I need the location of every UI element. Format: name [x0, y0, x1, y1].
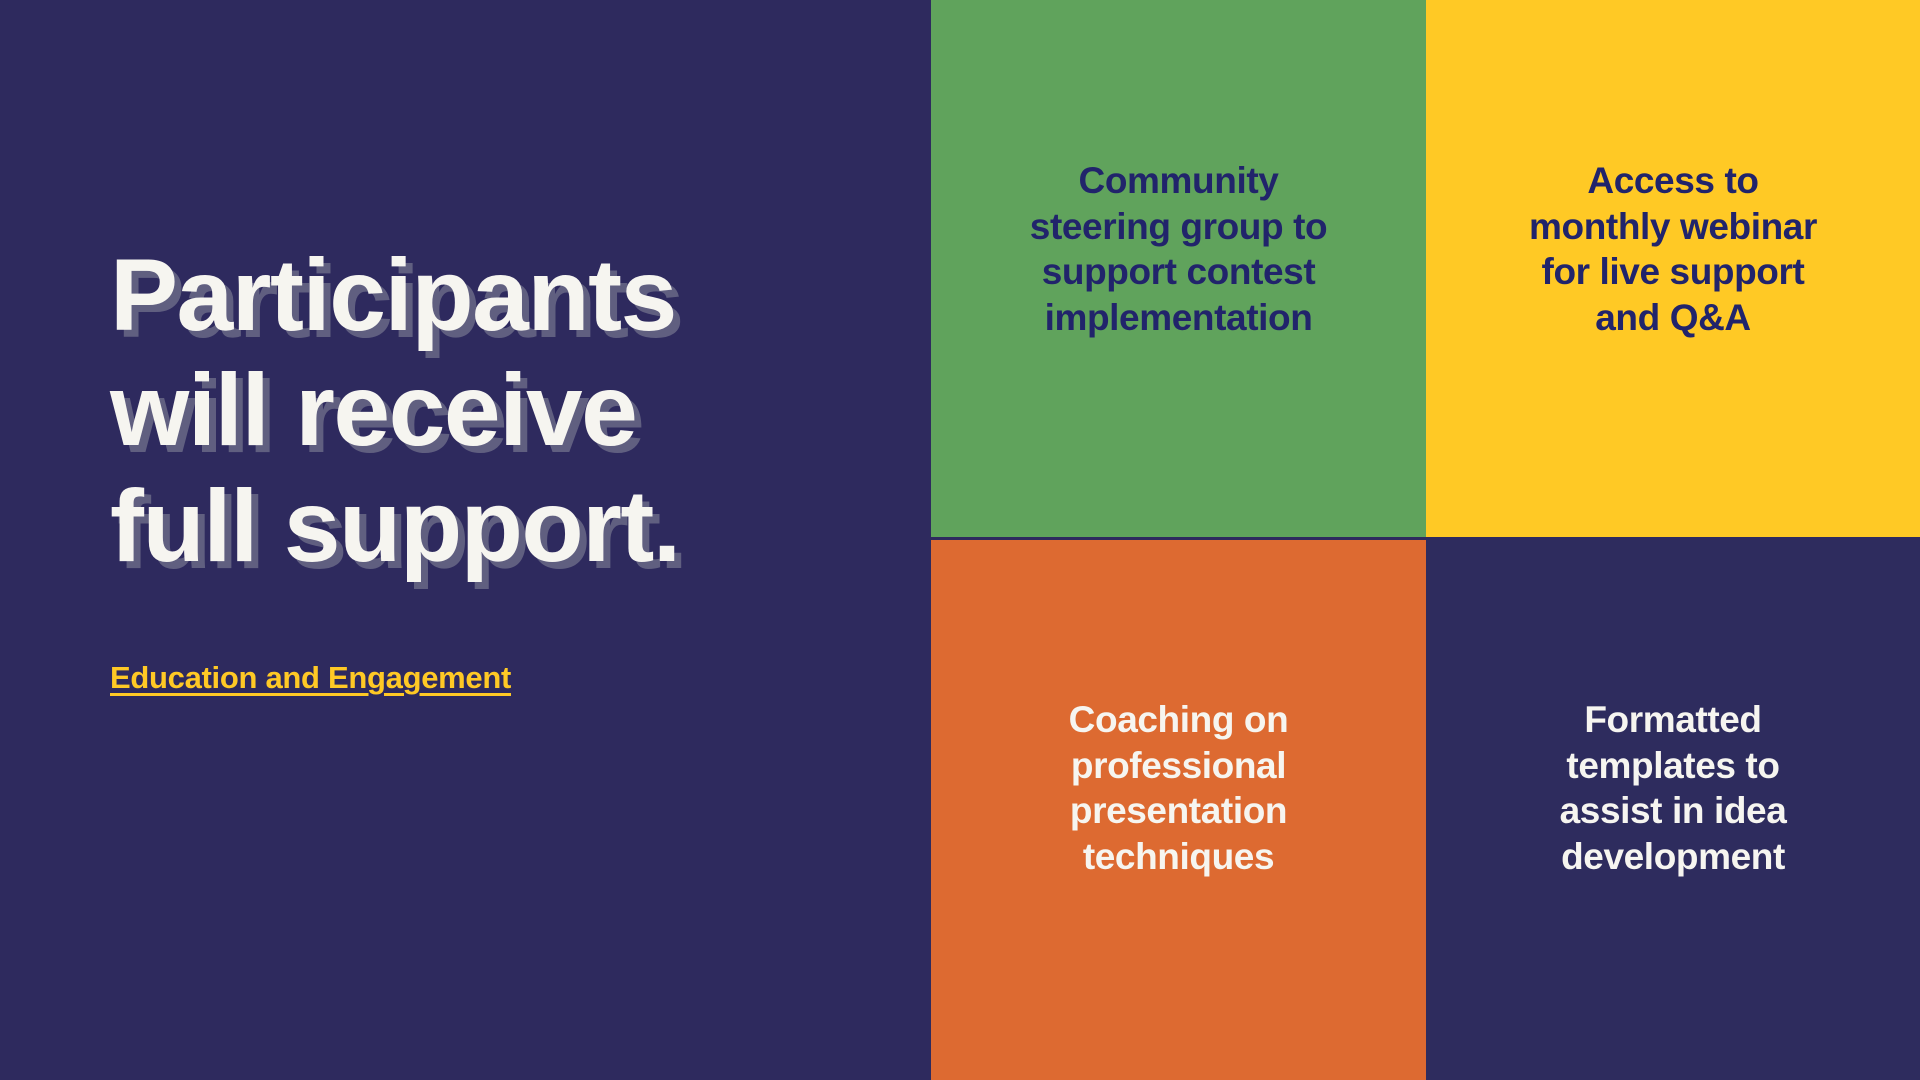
page-title: Participants will receive full support.: [110, 238, 890, 584]
headline-line-1: Participants: [110, 238, 890, 353]
grid-cell-label: Access to monthly webinar for live suppo…: [1529, 158, 1817, 340]
grid-cell-monthly-webinar: Access to monthly webinar for live suppo…: [1426, 0, 1920, 537]
grid-cell-label: Coaching on professional presentation te…: [1069, 697, 1289, 879]
presentation-slide: Participants will receive full support. …: [0, 0, 1920, 1080]
subtitle-link-education-and-engagement[interactable]: Education and Engagement: [110, 660, 511, 696]
grid-cell-community-steering-group: Community steering group to support cont…: [931, 0, 1426, 537]
headline-line-2: will receive: [110, 353, 890, 468]
grid-cell-formatted-templates: Formatted templates to assist in idea de…: [1426, 540, 1920, 1080]
grid-cell-label: Formatted templates to assist in idea de…: [1560, 697, 1787, 879]
grid-cell-label: Community steering group to support cont…: [1030, 158, 1327, 340]
grid-cell-presentation-coaching: Coaching on professional presentation te…: [931, 540, 1426, 1080]
support-features-grid: Community steering group to support cont…: [931, 0, 1920, 1080]
left-title-panel: Participants will receive full support. …: [0, 0, 931, 1080]
headline-line-3: full support.: [110, 469, 890, 584]
